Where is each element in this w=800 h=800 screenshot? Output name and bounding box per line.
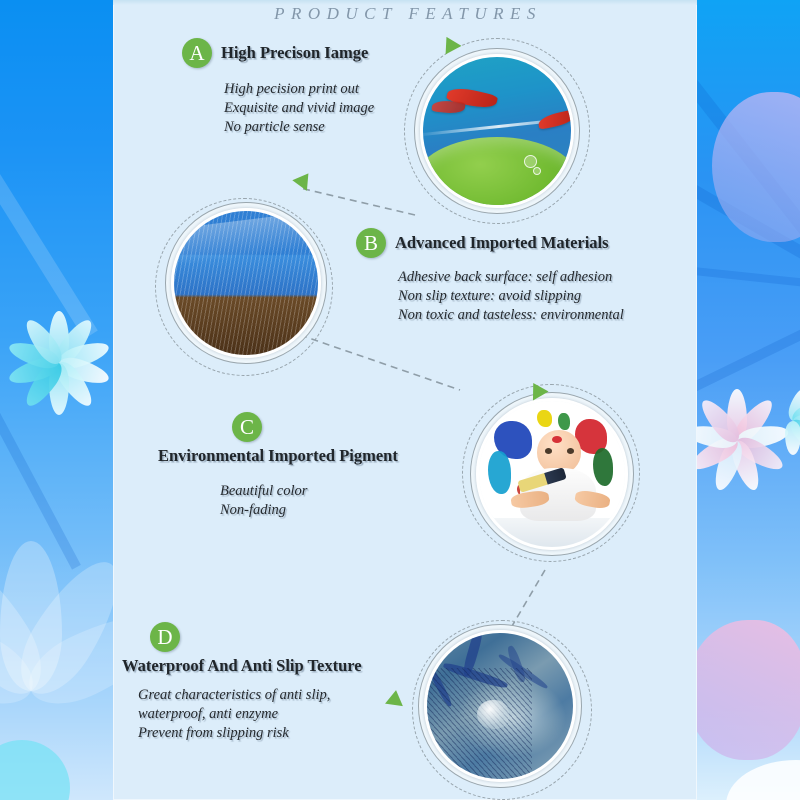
baby-eye (545, 448, 552, 454)
feature-d-line-2: waterproof, anti enzyme (138, 705, 362, 724)
feature-c-line-2: Non-fading (220, 501, 398, 520)
photo-b-image (174, 211, 318, 355)
paint-floor (479, 518, 625, 547)
paint-splatter (558, 413, 570, 431)
photo-d-image (427, 633, 573, 779)
circle-ornament (0, 740, 70, 800)
feature-a-heading: A High Precison Iamge (182, 38, 374, 68)
photo-circle-b[interactable] (165, 202, 327, 364)
page-title: PRODUCT FEATURES (113, 4, 697, 24)
feature-a-line-1: High pecision print out (224, 80, 374, 99)
infographic-root: PRODUCT FEATURES A High Precison Iamge H… (0, 0, 800, 800)
fish-shape (537, 109, 574, 130)
anti-slip-hatch-texture (427, 668, 532, 779)
badge-b: B (356, 228, 386, 258)
feature-b-line-2: Non slip texture: avoid slipping (398, 287, 624, 306)
feature-block-d: D Waterproof And Anti Slip Texture Great… (122, 622, 362, 743)
feature-a-lines: High pecision print out Exquisite and vi… (224, 80, 374, 137)
feature-c-heading: C (158, 412, 398, 442)
feature-d-heading: D (122, 622, 362, 652)
photo-b-inner-ring (171, 208, 321, 358)
stripe-decor (696, 268, 800, 408)
photo-c-inner-ring (476, 398, 628, 550)
feature-c-title: Environmental Imported Pigment (158, 446, 398, 466)
stripe-decor (0, 110, 98, 339)
paint-splatter (537, 410, 552, 428)
feature-d-line-3: Prevent from slipping risk (138, 724, 362, 743)
water-drop (524, 155, 537, 168)
photo-c-image (479, 401, 625, 547)
blob-ornament (726, 760, 800, 800)
lily-pad-shape (420, 137, 574, 208)
photo-circle-d[interactable] (418, 624, 582, 788)
left-flower-ornament (58, 362, 60, 364)
feature-a-line-2: Exquisite and vivid image (224, 99, 374, 118)
feature-b-line-3: Non toxic and tasteless: environmental (398, 306, 624, 325)
flower-ornament-faint (30, 690, 32, 692)
feature-b-lines: Adhesive back surface: self adhesion Non… (398, 268, 624, 325)
paint-splatter (593, 448, 613, 486)
feature-a-title: High Precison Iamge (221, 43, 368, 63)
badge-c: C (232, 412, 262, 442)
paint-splatter (488, 451, 511, 495)
baby-eye (567, 448, 574, 454)
feature-b-title: Advanced Imported Materials (395, 233, 609, 253)
photo-a-inner-ring (420, 54, 574, 208)
photo-circle-c[interactable] (470, 392, 634, 556)
fish-shape (431, 100, 465, 115)
feature-b-heading: B Advanced Imported Materials (356, 228, 624, 258)
feature-d-line-1: Great characteristics of anti slip, (138, 686, 362, 705)
feature-block-a: A High Precison Iamge High pecision prin… (182, 38, 374, 137)
feature-block-b: B Advanced Imported Materials Adhesive b… (356, 228, 624, 325)
feature-block-c: C Environmental Imported Pigment Beautif… (158, 412, 398, 520)
photo-d-inner-ring (424, 630, 576, 782)
left-decorative-band (0, 0, 116, 800)
petal-ornament (696, 620, 800, 760)
feature-a-line-3: No particle sense (224, 118, 374, 137)
feature-b-line-1: Adhesive back surface: self adhesion (398, 268, 624, 287)
feature-d-lines: Great characteristics of anti slip, wate… (138, 686, 362, 743)
right-flower-ornament-cyan (792, 420, 794, 422)
badge-d: D (150, 622, 180, 652)
water-bead (477, 700, 509, 729)
right-flower-ornament-pink (736, 440, 738, 442)
feature-d-title: Waterproof And Anti Slip Texture (122, 656, 362, 676)
photo-a-image (423, 57, 571, 205)
feature-c-lines: Beautiful color Non-fading (220, 482, 398, 520)
petal-ornament (712, 92, 800, 242)
badge-a: A (182, 38, 212, 68)
photo-circle-a[interactable] (414, 48, 580, 214)
feature-c-line-1: Beautiful color (220, 482, 398, 501)
green-triangle-arrow-d (385, 689, 405, 706)
stripe-decor (696, 262, 800, 301)
right-decorative-band (696, 0, 800, 800)
